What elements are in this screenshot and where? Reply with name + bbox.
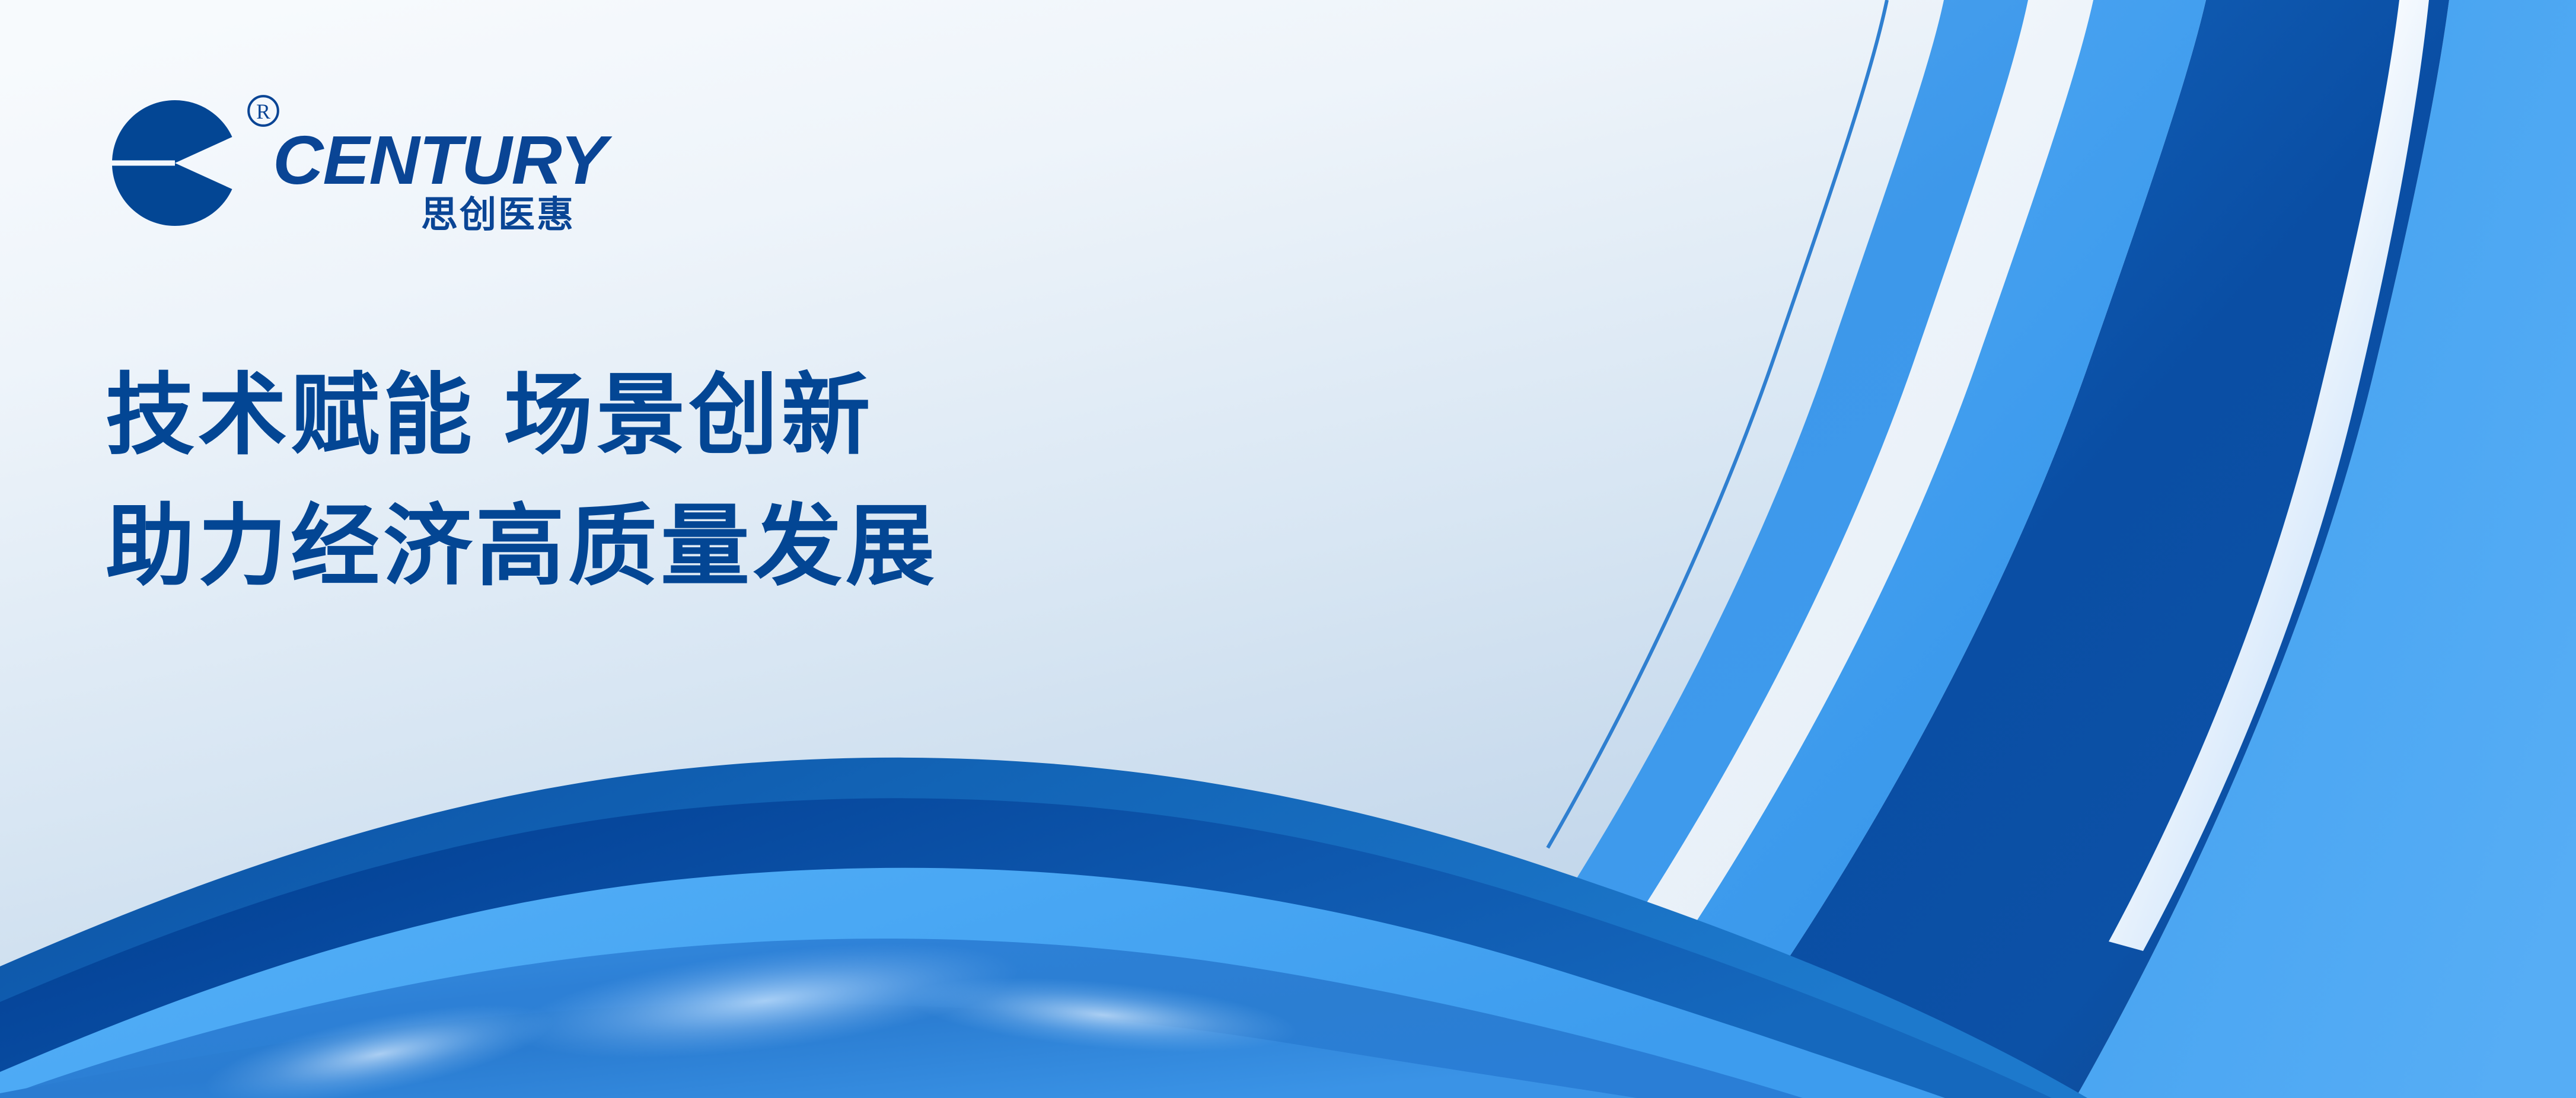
headline-line-2: 助力经济高质量发展 [106,481,1529,612]
brand-logo: R CENTURY 思创医惠 [101,83,611,255]
svg-text:R: R [256,100,270,123]
logo-subtext: 思创医惠 [421,197,575,234]
century-c-mark-icon [101,89,249,237]
logo-wordmark: CENTURY [273,126,607,194]
promotional-banner: R CENTURY 思创医惠 技术赋能 场景创新 助力经济高质量发展 [0,0,2576,1098]
headline-line-1: 技术赋能 场景创新 [106,350,1529,481]
headline-block: 技术赋能 场景创新 助力经济高质量发展 [106,350,1529,611]
